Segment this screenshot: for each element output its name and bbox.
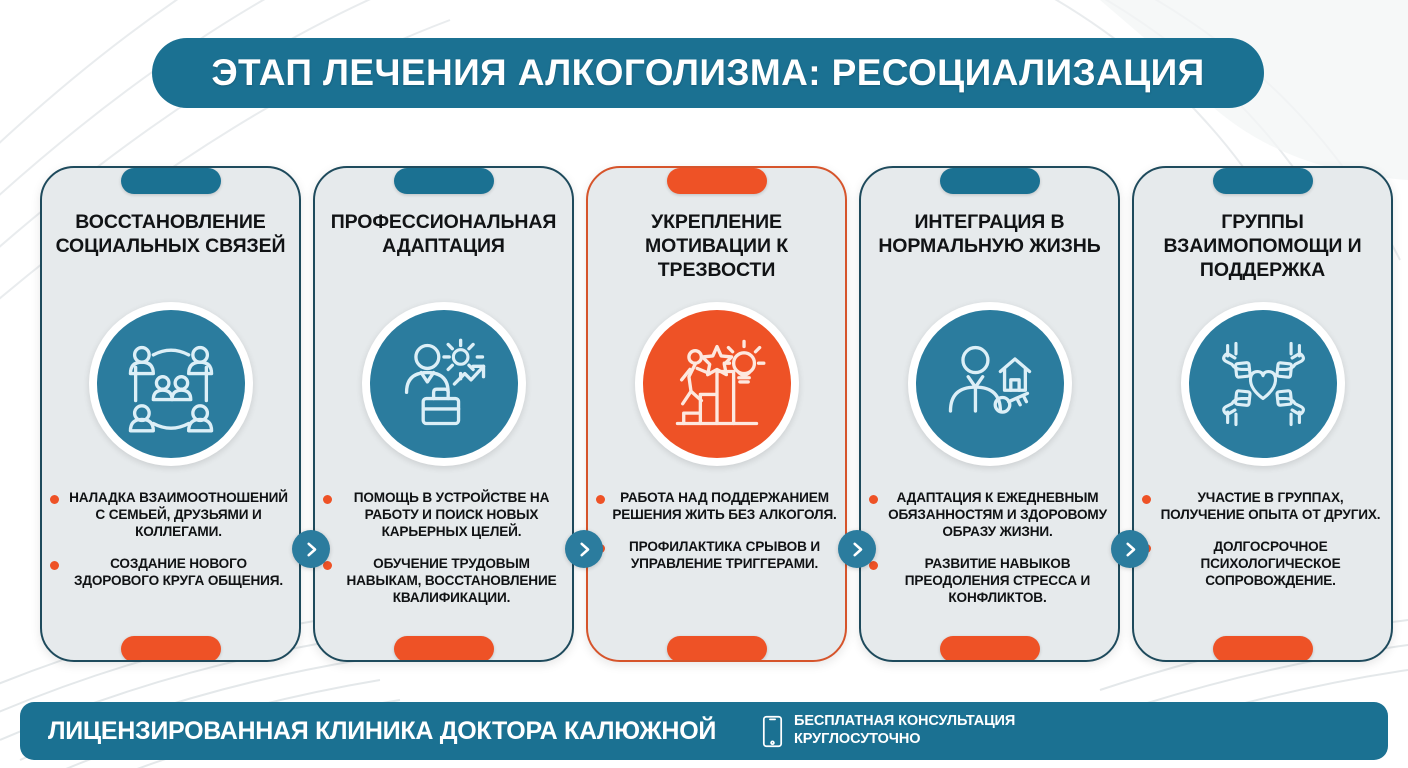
bullet-text: СОЗДАНИЕ НОВОГО ЗДОРОВОГО КРУГА ОБЩЕНИЯ. [66, 556, 291, 590]
card-top-tab [667, 168, 767, 194]
people-network-icon [119, 332, 223, 436]
stage-icon-circle [643, 310, 791, 458]
bullet-text: РАЗВИТИЕ НАВЫКОВ ПРЕОДОЛЕНИЯ СТРЕССА И К… [885, 556, 1110, 607]
stage-icon-wrap [908, 302, 1072, 466]
stage-slot-3: УКРЕПЛЕНИЕ МОТИВАЦИИ К ТРЕЗВОСТИ [586, 152, 847, 672]
stage-bullets: ПОМОЩЬ В УСТРОЙСТВЕ НА РАБОТУ И ПОИСК НО… [323, 490, 564, 607]
card-top-tab [394, 168, 494, 194]
businessman-career-icon [392, 332, 496, 436]
stairs-motivation-icon [665, 332, 769, 436]
contact-line-2: КРУГЛОСУТОЧНО [794, 731, 1015, 749]
stage-card-1[interactable]: ВОССТАНОВЛЕНИЕ СОЦИАЛЬНЫХ СВЯЗЕЙ [40, 166, 301, 662]
stage-title: ИНТЕГРАЦИЯ В НОРМАЛЬНУЮ ЖИЗНЬ [871, 210, 1108, 258]
card-top-tab [121, 168, 221, 194]
chevron-right-icon [849, 541, 866, 558]
infographic-root: ЭТАП ЛЕЧЕНИЯ АЛКОГОЛИЗМА: РЕСОЦИАЛИЗАЦИЯ… [0, 0, 1408, 768]
stage-icon-wrap [1181, 302, 1345, 466]
card-bottom-tab [667, 636, 767, 662]
stage-title: ГРУППЫ ВЗАИМОПОМОЩИ И ПОДДЕРЖКА [1144, 210, 1381, 283]
stage-card-2[interactable]: ПРОФЕССИОНАЛЬНАЯ АДАПТАЦИЯ [313, 166, 574, 662]
stage-slot-2: ПРОФЕССИОНАЛЬНАЯ АДАПТАЦИЯ [313, 152, 574, 672]
clinic-name: ЛИЦЕНЗИРОВАННАЯ КЛИНИКА ДОКТОРА КАЛЮЖНОЙ [48, 717, 716, 746]
stage-icon-wrap [89, 302, 253, 466]
card-top-tab [940, 168, 1040, 194]
bullet-dot-icon [1142, 495, 1151, 504]
bullet-text: ДОЛГОСРОЧНОЕ ПСИХОЛОГИЧЕСКОЕ СОПРОВОЖДЕН… [1158, 539, 1383, 590]
bullet-dot-icon [596, 495, 605, 504]
chevron-right-icon [1122, 541, 1139, 558]
contact-lines: БЕСПЛАТНАЯ КОНСУЛЬТАЦИЯ КРУГЛОСУТОЧНО [794, 713, 1015, 748]
card-bottom-tab [394, 636, 494, 662]
stage-title: УКРЕПЛЕНИЕ МОТИВАЦИИ К ТРЕЗВОСТИ [598, 210, 835, 283]
stage-slot-1: ВОССТАНОВЛЕНИЕ СОЦИАЛЬНЫХ СВЯЗЕЙ [40, 152, 301, 672]
list-item: РАЗВИТИЕ НАВЫКОВ ПРЕОДОЛЕНИЯ СТРЕССА И К… [869, 556, 1110, 607]
chevron-right-icon [576, 541, 593, 558]
bullet-dot-icon [50, 495, 59, 504]
bullet-text: ПРОФИЛАКТИКА СРЫВОВ И УПРАВЛЕНИЕ ТРИГГЕР… [612, 539, 837, 573]
stage-icon-circle [370, 310, 518, 458]
stage-bullets: АДАПТАЦИЯ К ЕЖЕДНЕВНЫМ ОБЯЗАННОСТЯМ И ЗД… [869, 490, 1110, 607]
list-item: УЧАСТИЕ В ГРУППАХ, ПОЛУЧЕНИЕ ОПЫТА ОТ ДР… [1142, 490, 1383, 524]
card-bottom-tab [121, 636, 221, 662]
stage-arrow-3 [838, 530, 876, 568]
page-title: ЭТАП ЛЕЧЕНИЯ АЛКОГОЛИЗМА: РЕСОЦИАЛИЗАЦИЯ [211, 52, 1204, 94]
stage-title: ВОССТАНОВЛЕНИЕ СОЦИАЛЬНЫХ СВЯЗЕЙ [52, 210, 289, 258]
page-footer: ЛИЦЕНЗИРОВАННАЯ КЛИНИКА ДОКТОРА КАЛЮЖНОЙ… [20, 702, 1388, 760]
list-item: ПОМОЩЬ В УСТРОЙСТВЕ НА РАБОТУ И ПОИСК НО… [323, 490, 564, 541]
stage-icon-wrap [635, 302, 799, 466]
bullet-dot-icon [869, 495, 878, 504]
stage-slot-5: ГРУППЫ ВЗАИМОПОМОЩИ И ПОДДЕРЖКА [1132, 152, 1393, 672]
stage-title: ПРОФЕССИОНАЛЬНАЯ АДАПТАЦИЯ [325, 210, 562, 258]
bullet-text: АДАПТАЦИЯ К ЕЖЕДНЕВНЫМ ОБЯЗАННОСТЯМ И ЗД… [885, 490, 1110, 541]
bullet-dot-icon [50, 561, 59, 570]
stage-slot-4: ИНТЕГРАЦИЯ В НОРМАЛЬНУЮ ЖИЗНЬ [859, 152, 1120, 672]
list-item: АДАПТАЦИЯ К ЕЖЕДНЕВНЫМ ОБЯЗАННОСТЯМ И ЗД… [869, 490, 1110, 541]
stage-card-5[interactable]: ГРУППЫ ВЗАИМОПОМОЩИ И ПОДДЕРЖКА [1132, 166, 1393, 662]
stage-card-4[interactable]: ИНТЕГРАЦИЯ В НОРМАЛЬНУЮ ЖИЗНЬ [859, 166, 1120, 662]
list-item: НАЛАДКА ВЗАИМООТНОШЕНИЙ С СЕМЬЕЙ, ДРУЗЬЯ… [50, 490, 291, 541]
stage-arrow-2 [565, 530, 603, 568]
mobile-phone-icon [762, 715, 783, 748]
stage-bullets: РАБОТА НАД ПОДДЕРЖАНИЕМ РЕШЕНИЯ ЖИТЬ БЕЗ… [596, 490, 837, 573]
stage-icon-wrap [362, 302, 526, 466]
bullet-text: ОБУЧЕНИЕ ТРУДОВЫМ НАВЫКАМ, ВОССТАНОВЛЕНИ… [339, 556, 564, 607]
stage-bullets: НАЛАДКА ВЗАИМООТНОШЕНИЙ С СЕМЬЕЙ, ДРУЗЬЯ… [50, 490, 291, 590]
stage-icon-circle [1189, 310, 1337, 458]
list-item: РАБОТА НАД ПОДДЕРЖАНИЕМ РЕШЕНИЯ ЖИТЬ БЕЗ… [596, 490, 837, 524]
hands-heart-support-icon [1211, 332, 1315, 436]
stage-card-3[interactable]: УКРЕПЛЕНИЕ МОТИВАЦИИ К ТРЕЗВОСТИ [586, 166, 847, 662]
contact-line-1: БЕСПЛАТНАЯ КОНСУЛЬТАЦИЯ [794, 713, 1015, 731]
card-bottom-tab [940, 636, 1040, 662]
bullet-text: НАЛАДКА ВЗАИМООТНОШЕНИЙ С СЕМЬЕЙ, ДРУЗЬЯ… [66, 490, 291, 541]
list-item: ДОЛГОСРОЧНОЕ ПСИХОЛОГИЧЕСКОЕ СОПРОВОЖДЕН… [1142, 539, 1383, 590]
stage-icon-circle [97, 310, 245, 458]
card-top-tab [1213, 168, 1313, 194]
card-bottom-tab [1213, 636, 1313, 662]
bullet-dot-icon [323, 495, 332, 504]
stages-row: ВОССТАНОВЛЕНИЕ СОЦИАЛЬНЫХ СВЯЗЕЙ [0, 152, 1408, 672]
person-home-key-icon [938, 332, 1042, 436]
list-item: СОЗДАНИЕ НОВОГО ЗДОРОВОГО КРУГА ОБЩЕНИЯ. [50, 556, 291, 590]
stage-arrow-4 [1111, 530, 1149, 568]
list-item: ОБУЧЕНИЕ ТРУДОВЫМ НАВЫКАМ, ВОССТАНОВЛЕНИ… [323, 556, 564, 607]
bullet-text: ПОМОЩЬ В УСТРОЙСТВЕ НА РАБОТУ И ПОИСК НО… [339, 490, 564, 541]
chevron-right-icon [303, 541, 320, 558]
stage-arrow-1 [292, 530, 330, 568]
stage-icon-circle [916, 310, 1064, 458]
contact-block[interactable]: БЕСПЛАТНАЯ КОНСУЛЬТАЦИЯ КРУГЛОСУТОЧНО [762, 713, 1015, 748]
page-header: ЭТАП ЛЕЧЕНИЯ АЛКОГОЛИЗМА: РЕСОЦИАЛИЗАЦИЯ [152, 38, 1264, 108]
bullet-text: УЧАСТИЕ В ГРУППАХ, ПОЛУЧЕНИЕ ОПЫТА ОТ ДР… [1158, 490, 1383, 524]
bullet-text: РАБОТА НАД ПОДДЕРЖАНИЕМ РЕШЕНИЯ ЖИТЬ БЕЗ… [612, 490, 837, 524]
list-item: ПРОФИЛАКТИКА СРЫВОВ И УПРАВЛЕНИЕ ТРИГГЕР… [596, 539, 837, 573]
stage-bullets: УЧАСТИЕ В ГРУППАХ, ПОЛУЧЕНИЕ ОПЫТА ОТ ДР… [1142, 490, 1383, 590]
